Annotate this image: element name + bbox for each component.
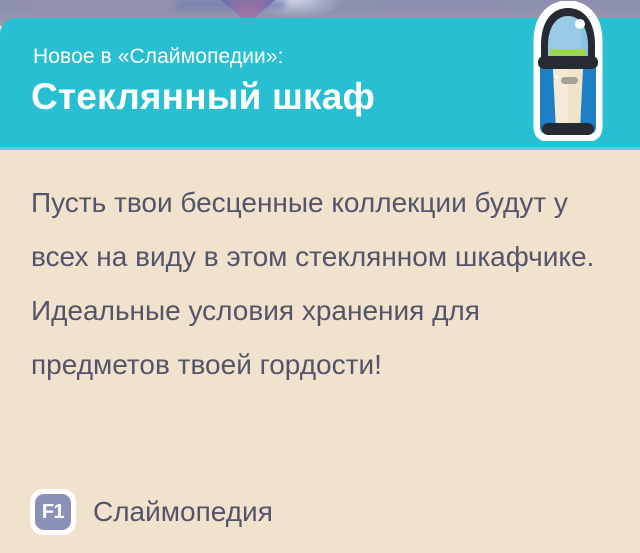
background-streak (30, 0, 180, 7)
popup-description-text: Пусть твои бесценные коллекции будут у в… (31, 176, 606, 392)
slimepedia-hint-row[interactable]: F1 Слаймопедия (30, 489, 273, 535)
background-streak (380, 1, 500, 7)
popup-eyebrow-text: Новое в «Слаймопедии»: (33, 45, 284, 69)
slimepedia-hint-label: Слаймопедия (93, 496, 273, 528)
slimepedia-new-item-popup: Новое в «Слаймопедии»: Стеклянный шкаф (0, 0, 640, 553)
page-title: Стеклянный шкаф (31, 76, 375, 118)
f1-key-badge[interactable]: F1 (30, 489, 76, 535)
glass-display-cabinet-icon (524, 1, 612, 141)
f1-key-label: F1 (35, 494, 71, 530)
